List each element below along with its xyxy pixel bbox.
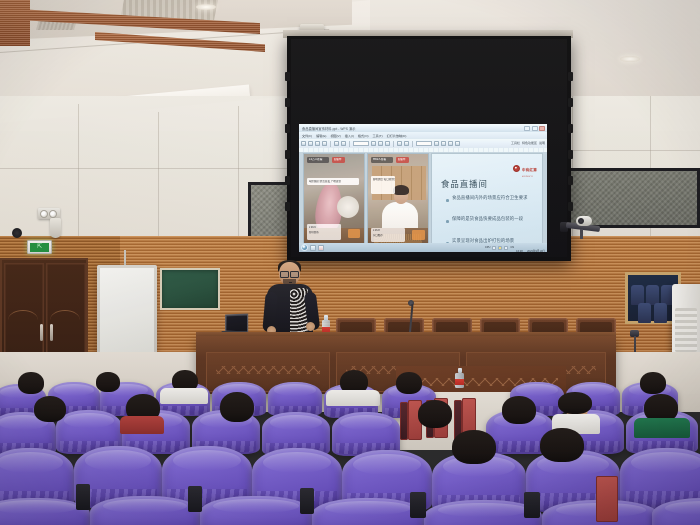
downlight-icon [620,56,640,62]
projection-surface: 食品直播间宣传材料.ppt - WPS 演示 文件(F) 编辑(E) 视图(V)… [291,39,567,257]
price-text: ¥ 39.9 [309,226,341,229]
host-hair [393,185,409,195]
slide-bullet-1: 食品直播间内外的场景应符合卫生要求 [452,196,538,202]
italic-icon[interactable] [378,141,383,146]
live-badge: 直播中 [334,158,346,161]
projected-computer-screen: 食品直播间宣传材料.ppt - WPS 演示 文件(F) 编辑(E) 视图(V)… [299,124,547,252]
bottle-cap [324,315,328,321]
minimize-icon[interactable] [524,126,530,131]
new-file-icon[interactable] [301,141,306,146]
auditorium-photo: 食品直播间宣传材料.ppt - WPS 演示 文件(F) 编辑(E) 视图(V)… [0,0,700,525]
audience-shirt [634,418,690,438]
screen-tab [285,124,290,133]
notification-icon[interactable] [498,246,502,250]
window-visible-seat [646,285,659,305]
audience-shirt [326,390,380,406]
panel-seam [78,104,79,246]
panel-seam [158,112,159,246]
window-toolbar[interactable]: 工具栏 特色功能区 说明 [299,139,547,148]
exit-sign-face: ⇱ [30,243,49,252]
bottle-label [455,379,464,385]
panel-seam [0,168,290,169]
menu-slideshow[interactable]: 幻灯片放映(D) [387,133,407,138]
clock-time: 16:28 [516,250,523,253]
caption-text: 海鲜现捞 鲜活直发 产地直供 [309,180,359,183]
toolbar-divider [412,141,413,147]
bold-icon[interactable] [371,141,376,146]
system-tray[interactable]: CPU CN 16:28 2023年9月19日 [485,239,545,253]
seat-end-panel-dark [400,402,408,440]
logo-mark-icon [513,165,520,172]
toolbar-divider [330,141,331,147]
bullet-marker [446,199,449,202]
livestream-screenshot-seafood: 1.2万人在看 直播中 海鲜现捞 鲜活直发 产地直供 ¥ 39.9 限时秒杀 立… [303,153,365,243]
screen-tab [568,124,573,133]
taskbar-pin-explorer-icon[interactable] [310,245,316,251]
save-icon[interactable] [315,141,320,146]
volume-icon[interactable] [504,246,508,250]
camera-arm [580,229,583,239]
window-visible-seat [631,285,644,305]
lamp-icon [49,210,57,218]
logo-text-en: HONGYI [522,176,537,178]
toolbar-divider [349,141,350,147]
slide-title: 食品直播间 [441,178,488,190]
menu-edit[interactable]: 编辑(E) [316,133,326,138]
undo-icon[interactable] [334,141,339,146]
maximize-icon[interactable] [532,126,538,131]
open-folder-icon[interactable] [308,141,313,146]
running-person-icon: ⇱ [37,244,42,250]
audience-shirt [120,416,164,434]
menu-format[interactable]: 格式(O) [358,133,369,138]
wall-speaker-black [12,228,22,238]
audience-hair [558,392,592,414]
audience-head [220,392,254,422]
wall-speaker [50,218,61,238]
screen-tab [285,202,290,211]
toolbar-right-group[interactable]: 工具栏 特色功能区 说明 [511,141,545,145]
livestream-screenshot-bakery: 8652人在看 直播中 现场烘焙 每日新鲜出炉 看得见的安心 ¥ 26.8 今日… [367,153,429,243]
window-title: 食品直播间宣传材料.ppt - WPS 演示 [302,126,356,131]
floor-water-bottle [455,368,464,388]
screen-tab [568,98,573,107]
door-handle-right[interactable] [50,324,53,341]
menu-file[interactable]: 文件(F) [302,133,312,138]
audience-head [396,372,422,394]
table-icon[interactable] [455,141,460,146]
seat [90,496,200,525]
window-visible-seat [654,303,667,323]
seat [312,498,424,525]
font-name-select[interactable] [353,141,369,146]
seat [200,496,312,525]
tray-cpu-label: CPU [485,246,490,249]
underline-icon[interactable] [385,141,390,146]
textbox-icon[interactable] [441,141,446,146]
menu-insert[interactable]: 插入(I) [345,133,354,138]
toolbar-label[interactable]: 工具栏 [511,141,520,145]
network-icon[interactable] [492,246,496,250]
brand-logo: 中商红算 HONGYI [513,158,537,178]
seat-frame [410,492,426,518]
audience-head [452,430,496,464]
toolbar-divider [393,141,394,147]
promo-badge [348,229,360,238]
screen-tab [568,150,573,159]
document-area: 1.2万人在看 直播中 海鲜现捞 鲜活直发 产地直供 ¥ 39.9 限时秒杀 立… [299,148,547,243]
downlight-icon [196,4,216,10]
seat-end-panel [596,476,618,522]
audience-head [34,396,66,422]
ruler [299,148,547,152]
taskbar[interactable]: CPU CN 16:28 2023年9月19日 [299,243,547,252]
screen-tab [285,176,290,185]
seat-frame [300,488,314,514]
podium-zigzag-detail [216,366,320,374]
panel-seam [572,150,700,151]
start-button-icon[interactable] [301,244,308,251]
security-camera [566,216,600,232]
camera-lens-icon [578,218,584,224]
screen-tab [568,202,573,211]
door-handle-left[interactable] [40,324,43,341]
logo-text-cn: 中商红算 [522,168,537,172]
panel-seam [238,106,239,246]
laptop-screen [226,315,246,331]
slide-bullet-2: 保障的是货食品快要成品包装的一段 [452,217,538,223]
picture-icon[interactable] [448,141,453,146]
redo-icon[interactable] [341,141,346,146]
zoom-select[interactable] [416,141,432,146]
price-text: ¥ 26.8 [373,229,405,232]
seat [268,382,322,416]
plate-image [337,196,359,218]
exit-sign: ⇱ [27,240,52,254]
whiteboard[interactable] [97,265,157,365]
taskbar-pin-pdf-icon[interactable] [318,245,324,251]
viewer-count: 8652人在看 [373,158,393,161]
print-icon[interactable] [322,141,327,146]
align-left-icon[interactable] [397,141,402,146]
screen-tab [568,176,573,185]
window-controls[interactable] [524,126,545,131]
audience-shirt [160,388,208,404]
lamp-icon [40,210,48,218]
whiteboard-surface[interactable] [100,268,154,357]
wood-trim-corner [0,0,30,46]
laptop-lid[interactable] [225,313,248,332]
menu-tools[interactable]: 工具(T) [373,133,383,138]
presentation-slide: 中商红算 HONGYI 食品直播间 食品直播间内外的场景应符合卫生要求 保障的是… [431,153,543,243]
glasses-icon [280,271,299,276]
ac-grill [675,308,697,352]
audience-head [18,372,44,394]
green-board [160,268,220,310]
logo-text-group: 中商红算 HONGYI [522,158,537,178]
seat-frame [524,492,540,518]
audience-head [418,400,452,428]
clock[interactable]: 16:28 2023年9月19日 [516,239,545,253]
projection-screen: 食品直播间宣传材料.ppt - WPS 演示 文件(F) 编辑(E) 视图(V)… [287,36,571,261]
promo-badge [412,230,425,240]
viewer-count: 1.2万人在看 [309,158,329,161]
audience-head [502,396,536,424]
screen-tab [285,98,290,107]
screen-tab [285,72,290,81]
bullet-list-icon[interactable] [404,141,409,146]
presenter [262,262,318,338]
shape-icon[interactable] [434,141,439,146]
bullet-marker [446,220,449,223]
clock-date: 2023年9月19日 [527,250,545,253]
screen-tab [285,150,290,159]
live-badge: 直播中 [398,158,410,161]
audience-head [96,372,120,392]
audience-head [540,428,584,462]
window-titlebar: 食品直播间宣传材料.ppt - WPS 演示 [299,124,547,132]
tray-ime-label[interactable]: CN [510,246,514,249]
seat-frame [76,484,90,510]
window-menubar[interactable]: 文件(F) 编辑(E) 视图(V) 插入(I) 格式(O) 工具(T) 幻灯片放… [299,132,547,139]
window-visible-seat [638,303,651,323]
audience-head [640,372,666,394]
seat-frame [188,486,202,512]
close-icon[interactable] [539,126,545,131]
tag-text: 今日推荐 [373,234,405,237]
special-features-label[interactable]: 特色功能区 [522,141,537,145]
help-label[interactable]: 说明 [539,141,545,145]
presenter-hand-right [306,322,315,331]
tag-text: 限时秒杀 [309,231,341,234]
bottle-cap [458,368,462,373]
menu-view[interactable]: 视图(V) [330,133,340,138]
caption-text: 现场烘焙 每日新鲜出炉 看得见的安心 [373,178,395,181]
screen-tab [568,72,573,81]
